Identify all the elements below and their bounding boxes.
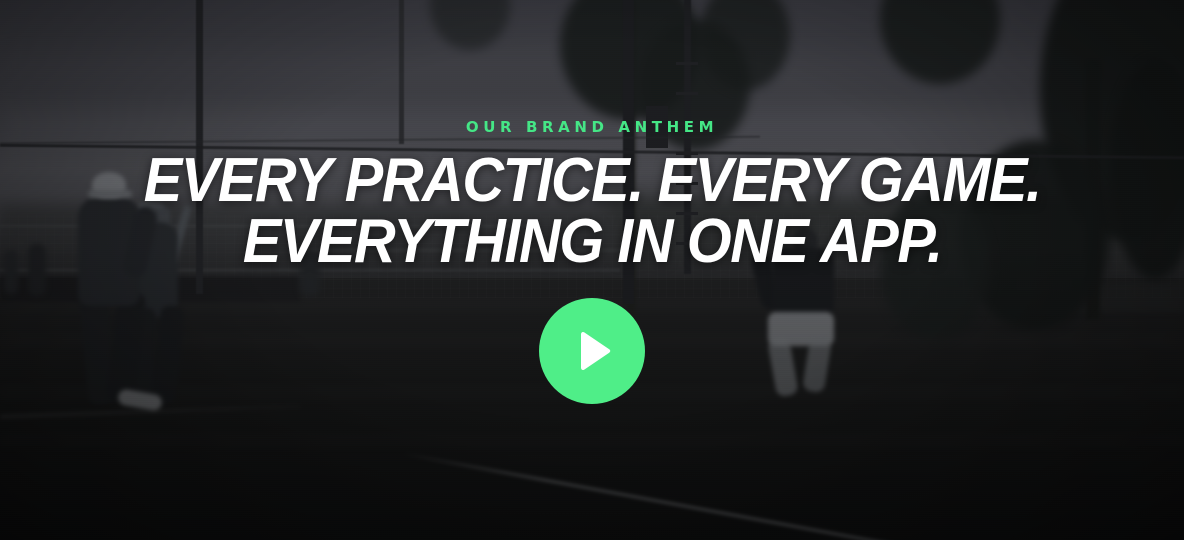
headline-line-1: EVERY PRACTICE. EVERY GAME. bbox=[144, 150, 1041, 211]
play-video-button[interactable] bbox=[539, 298, 645, 404]
hero-content: OUR BRAND ANTHEM EVERY PRACTICE. EVERY G… bbox=[0, 0, 1184, 540]
play-triangle-icon bbox=[573, 331, 612, 371]
headline-line-2: EVERYTHING IN ONE APP. bbox=[144, 211, 1041, 272]
hero-headline: EVERY PRACTICE. EVERY GAME. EVERYTHING I… bbox=[144, 150, 1041, 272]
play-button-wrapper[interactable] bbox=[539, 298, 645, 404]
hero-eyebrow: OUR BRAND ANTHEM bbox=[466, 118, 718, 136]
video-hero-section: OUR BRAND ANTHEM EVERY PRACTICE. EVERY G… bbox=[0, 0, 1184, 540]
